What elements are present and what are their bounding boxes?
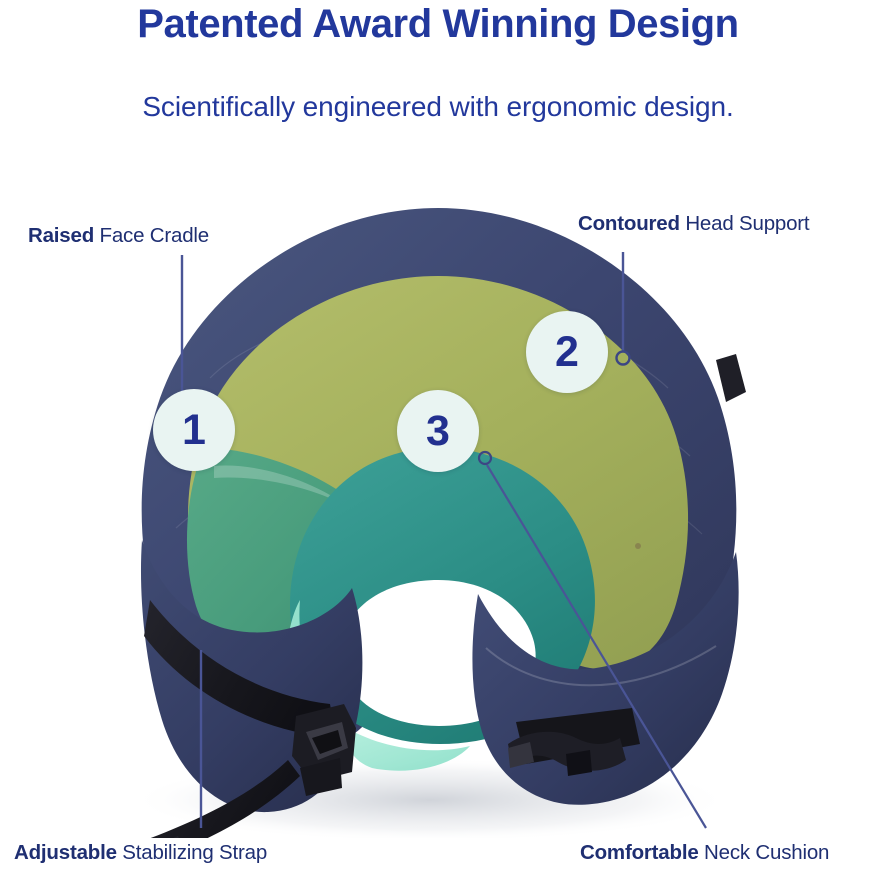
- feature-label-comfortable-neck-cushion: Comfortable Neck Cushion: [580, 843, 829, 864]
- feature-label-regular-part: Stabilizing Strap: [117, 841, 267, 864]
- page-title: Patented Award Winning Design: [0, 2, 876, 47]
- product-image-neck-pillow: [0, 148, 876, 838]
- feature-label-bold-part: Raised: [28, 224, 94, 247]
- infographic-canvas: Patented Award Winning Design Scientific…: [0, 0, 876, 870]
- side-tab: [716, 354, 746, 402]
- feature-label-contoured-head-support: Contoured Head Support: [578, 214, 809, 235]
- page-subtitle: Scientifically engineered with ergonomic…: [0, 90, 876, 124]
- feature-label-bold-part: Contoured: [578, 212, 680, 235]
- feature-label-bold-part: Adjustable: [14, 841, 117, 864]
- feature-label-raised-face-cradle: Raised Face Cradle: [28, 226, 209, 247]
- callout-badge-3[interactable]: 3: [397, 390, 479, 472]
- callout-badge-1[interactable]: 1: [153, 389, 235, 471]
- feature-label-bold-part: Comfortable: [580, 841, 699, 864]
- feature-label-regular-part: Head Support: [680, 212, 810, 235]
- callout-badge-2[interactable]: 2: [526, 311, 608, 393]
- feature-label-regular-part: Neck Cushion: [699, 841, 830, 864]
- stitch-dot: [635, 543, 641, 549]
- feature-label-adjustable-stabilizing-strap: Adjustable Stabilizing Strap: [14, 843, 267, 864]
- feature-label-regular-part: Face Cradle: [94, 224, 209, 247]
